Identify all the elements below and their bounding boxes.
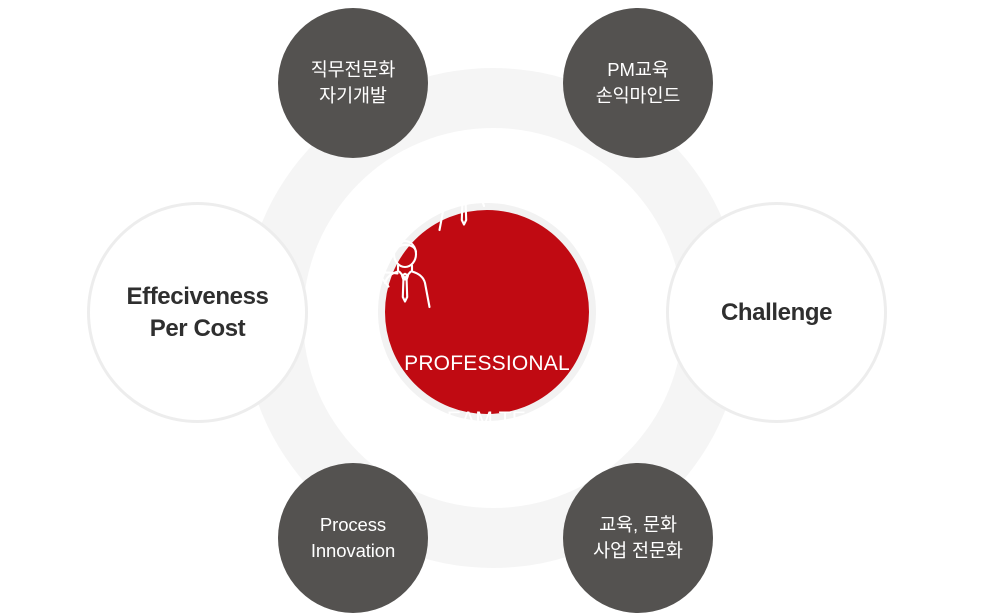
satellite-node-bottom-right[interactable]: 교육, 문화 사업 전문화: [563, 463, 713, 613]
satellite-node-top-left-line-1: 직무전문화: [311, 57, 396, 83]
center-node-line-1: PROFESSIONAL: [404, 350, 570, 378]
satellite-node-top-right-line-2: 손익마인드: [596, 83, 681, 109]
two-business-people-icon: [385, 162, 589, 316]
satellite-node-left[interactable]: Effeciveness Per Cost: [87, 202, 308, 423]
center-node-line-2: DREAM TEAM: [404, 406, 570, 434]
satellite-node-bottom-right-line-2: 사업 전문화: [593, 538, 683, 564]
center-node-professional-dream-team[interactable]: PROFESSIONAL DREAM TEAM: [379, 204, 595, 420]
satellite-node-bottom-right-line-1: 교육, 문화: [599, 512, 677, 538]
satellite-node-right[interactable]: Challenge: [666, 202, 887, 423]
satellite-node-top-right-line-1: PM교육: [607, 57, 668, 83]
satellite-node-bottom-left-line-1: Process: [320, 512, 386, 538]
satellite-node-top-left-line-2: 자기개발: [319, 83, 387, 109]
center-node-label: PROFESSIONAL DREAM TEAM: [404, 322, 570, 462]
satellite-node-left-line-2: Per Cost: [150, 313, 246, 344]
satellite-node-top-right[interactable]: PM교육 손익마인드: [563, 8, 713, 158]
satellite-node-bottom-left[interactable]: Process Innovation: [278, 463, 428, 613]
satellite-node-left-line-1: Effeciveness: [127, 281, 269, 312]
diagram-canvas: PROFESSIONAL DREAM TEAM 직무전문화 자기개발 PM교육 …: [0, 0, 1003, 616]
satellite-node-bottom-left-line-2: Innovation: [311, 538, 395, 564]
satellite-node-top-left[interactable]: 직무전문화 자기개발: [278, 8, 428, 158]
satellite-node-right-line-1: Challenge: [721, 297, 832, 328]
